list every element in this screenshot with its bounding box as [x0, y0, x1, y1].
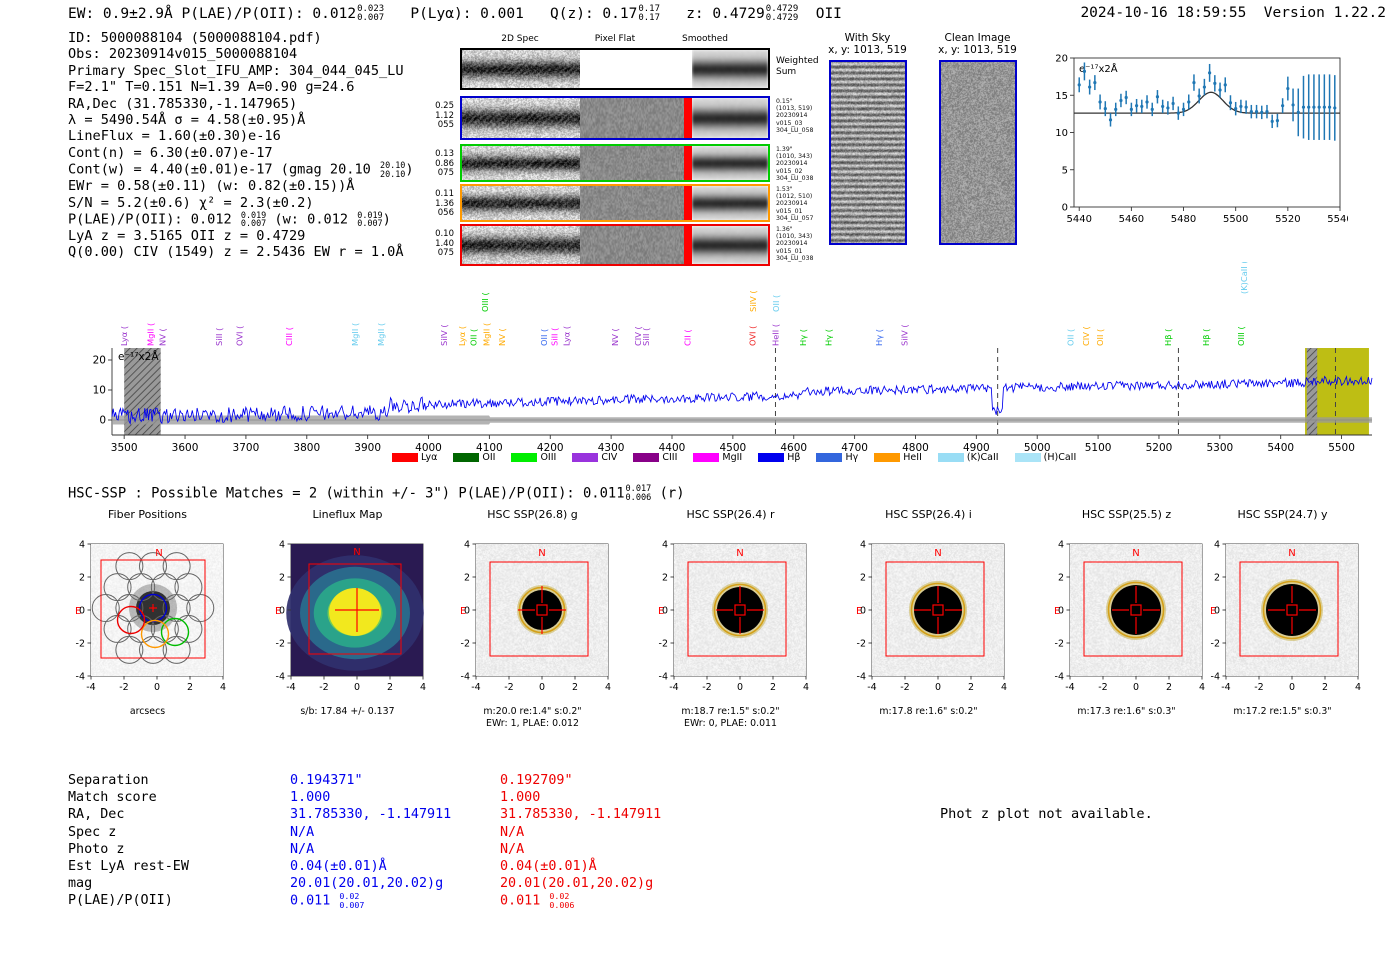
- spec2d-smoothed-image: [692, 146, 768, 180]
- header-z: z: 0.4729: [686, 6, 765, 22]
- info-snr: S/N = 5.2(±0.6) χ² = 2.3(±0.2): [68, 195, 414, 211]
- fitplot-ytick: 20: [1055, 54, 1068, 65]
- info-primary-spec: Primary Spec_Slot_IFU_AMP: 304_044_045_L…: [68, 63, 414, 79]
- spectrum-xtick: 3600: [172, 442, 199, 454]
- cutout-xtick: -4: [669, 682, 678, 693]
- spectrum-xtick: 3500: [111, 442, 138, 454]
- spectrum-legend-item: OIII: [511, 452, 556, 463]
- spectrum-xtick: 3700: [233, 442, 260, 454]
- spec2d-raw-image: [462, 226, 580, 264]
- cutout-xtick: 0: [1133, 682, 1139, 693]
- spectrum-emission-label: OII (: [1095, 329, 1105, 346]
- compass-north-label: N: [736, 548, 743, 559]
- cutout-ytick: 2: [1214, 572, 1220, 583]
- spec2d-row-right-labels: 1.36"(1010, 343)20230914v015_01304_LU_03…: [776, 226, 824, 262]
- cutout-panel-title: HSC SSP(26.4) r: [638, 508, 823, 521]
- spec2d-flat-noise: [580, 226, 692, 264]
- cutout-ytick: 2: [279, 572, 285, 583]
- spectrum-legend-label: Hγ: [842, 452, 858, 463]
- header-plya: P(Lyα): 0.001: [410, 6, 524, 22]
- cutout-ytick: 0: [1058, 605, 1064, 616]
- cutout-xtick: 2: [187, 682, 193, 693]
- cutout-ytick: -4: [461, 671, 470, 682]
- header-z-species: OII: [816, 6, 842, 22]
- cutout-xtick: 4: [803, 682, 809, 693]
- match-value-col1: N/A: [290, 841, 451, 858]
- info-quality: Q(0.00) CIV (1549) z = 2.5436 EW r = 1.0…: [68, 244, 414, 260]
- spec2d-left-value: 056: [412, 209, 454, 219]
- spectrum-emission-label: MgII (: [376, 323, 386, 346]
- spectrum-legend-item: (H)CaII: [1015, 452, 1077, 463]
- spectrum-emission-label: SiII (: [550, 328, 560, 346]
- match-value-col1: 0.04(±0.01)Å: [290, 858, 451, 875]
- cutout-xtick: -4: [867, 682, 876, 693]
- cutout-ytick: 2: [464, 572, 470, 583]
- spec2d-right-value: 20230914: [776, 112, 824, 119]
- fitplot-ytick: 0: [1062, 203, 1068, 214]
- spec2d-right-value: v015_03: [776, 120, 824, 127]
- spectrum-legend-item: MgII: [693, 452, 742, 463]
- cutout-ytick: -4: [659, 671, 668, 682]
- cutout-ytick: -2: [1055, 638, 1064, 649]
- spectrum-emission-label: OIII (: [1236, 326, 1246, 346]
- spec2d-pixel-flat: [580, 50, 692, 88]
- spec2d-right-value: (1010, 343): [776, 153, 824, 160]
- cutout-ytick: -4: [857, 671, 866, 682]
- cutout-xtick: 4: [220, 682, 226, 693]
- spectrum-emission-label: (K)CaII (: [1239, 262, 1249, 294]
- spec2d-pixel-flat: [580, 146, 692, 180]
- cutout-panel-title: Lineflux Map: [255, 508, 440, 521]
- spectrum-ytick: 20: [93, 355, 106, 367]
- cutout-ytick: 0: [662, 605, 668, 616]
- spectrum-emission-label: NV (: [610, 328, 620, 346]
- spectrum-emission-label: OII (: [771, 295, 781, 312]
- info-obs: Obs: 20230914v015_5000088104: [68, 46, 414, 62]
- spectrum-legend-label: Lyα: [418, 452, 437, 463]
- spec2d-right-value: (1010, 343): [776, 233, 824, 240]
- spec2d-pixel-flat: [580, 186, 692, 220]
- spec2d-raw-image: [462, 186, 580, 220]
- spectrum-legend-item: HeII: [874, 452, 922, 463]
- spec2d-col-header-1: Pixel Flat: [575, 34, 655, 44]
- match-value-col2: 1.000: [500, 789, 661, 806]
- compass-north-label: N: [1132, 548, 1139, 559]
- spectrum-legend-label: CIV: [598, 452, 617, 463]
- spectrum-emission-label: OII (: [469, 329, 479, 346]
- hsc-ssp-header: HSC-SSP : Possible Matches = 2 (within +…: [68, 485, 685, 502]
- cutout-ytick: -2: [659, 638, 668, 649]
- cutout-ytick: 0: [279, 605, 285, 616]
- cutout-panel-fibers[interactable]: Fiber PositionsNE-4-4-2-2002244arcsecs: [55, 508, 240, 738]
- fitplot-xtick: 5540: [1327, 214, 1348, 225]
- spectrum-legend-item: (K)CaII: [938, 452, 999, 463]
- spectrum-legend-label: CIII: [659, 452, 677, 463]
- spectrum-emission-label: MgII (: [481, 323, 491, 346]
- cutout-top-title-1: Clean Imagex, y: 1013, 519: [930, 32, 1025, 56]
- cutout-panel-i[interactable]: HSC SSP(26.4) iNE-4-4-2-2002244m:17.8 re…: [836, 508, 1021, 738]
- spec2d-right-value: (1012, 510): [776, 193, 824, 200]
- cutout-top-name: Clean Image: [930, 32, 1025, 44]
- hsc-header-prefix: HSC-SSP : Possible Matches = 2 (within +…: [68, 486, 625, 502]
- spectrum-legend-swatch: [572, 453, 598, 462]
- cutout-xtick: 0: [354, 682, 360, 693]
- header-summary-prefix: EW: 0.9±2.9Å P(LAE)/P(OII): 0.012: [68, 6, 356, 22]
- match-row-label: P(LAE)/P(OII): [68, 892, 189, 909]
- cutout-top-image-1: [939, 60, 1017, 245]
- info-cont-w: Cont(w) = 4.40(±0.01)e-17 (gmag 20.10 20…: [68, 161, 414, 178]
- fitplot-xtick: 5460: [1119, 214, 1144, 225]
- cutout-panel-caption-primary: m:18.7 re:1.5" s:0.2": [638, 706, 823, 717]
- match-table-column-1: 0.194371"1.00031.785330, -1.147911N/AN/A…: [290, 772, 451, 910]
- spectrum-legend-item: Lyα: [392, 452, 437, 463]
- cutout-xtick: -2: [319, 682, 328, 693]
- spec2d-right-value: 304_LU_038: [776, 175, 824, 182]
- cutout-xtick: -2: [119, 682, 128, 693]
- spectrum-legend-item: CIII: [633, 452, 677, 463]
- spectrum-legend-swatch: [453, 453, 479, 462]
- spectrum-emission-label: Hγ (: [874, 329, 884, 346]
- spectrum-emission-label: OII (: [539, 329, 549, 346]
- cutout-xtick: 2: [387, 682, 393, 693]
- spec2d-col-header-0: 2D Spec: [480, 34, 560, 44]
- spectrum-legend-item: Hβ: [758, 452, 800, 463]
- spec2d-pixel-flat: [580, 98, 692, 138]
- spec2d-left-value: 075: [412, 249, 454, 259]
- cutout-xtick: -4: [471, 682, 480, 693]
- header-datetime: 2024-10-16 18:59:55: [1080, 5, 1246, 21]
- spec2d-montage: 2D SpecPixel FlatSmoothedWeighted Sum0.2…: [420, 34, 810, 249]
- cutout-panel-caption-primary: m:17.2 re:1.5" s:0.3": [1190, 706, 1375, 717]
- spec2d-smoothed-image: [692, 186, 768, 220]
- cutout-xtick: 4: [1001, 682, 1007, 693]
- match-table-column-2: 0.192709"1.00031.785330, -1.147911N/AN/A…: [500, 772, 661, 910]
- spectrum-emission-label: MgII (: [145, 323, 155, 346]
- spectrum-legend-swatch: [816, 453, 842, 462]
- spectrum-legend-swatch: [633, 453, 659, 462]
- cutout-ytick: 4: [279, 539, 285, 550]
- spec2d-right-value: 0.15": [776, 98, 824, 105]
- spec2d-raw-image: [462, 146, 580, 180]
- spectrum-emission-label: SiII (: [214, 328, 224, 346]
- spec2d-pixel-flat: [580, 226, 692, 264]
- spectrum-legend-swatch: [758, 453, 784, 462]
- fitplot-xtick: 5520: [1275, 214, 1300, 225]
- spectrum-legend-item: CIV: [572, 452, 617, 463]
- spec2d-row: [460, 96, 770, 140]
- spec2d-raw-image: [462, 50, 580, 88]
- cutout-xtick: 2: [572, 682, 578, 693]
- spectrum-legend-label: OII: [479, 452, 495, 463]
- cutout-ytick: -4: [276, 671, 285, 682]
- spec2d-flat-red-marker: [684, 98, 692, 138]
- spectrum-legend-swatch: [1015, 453, 1041, 462]
- spec2d-row-right-labels: 1.39"(1010, 343)20230914v015_02304_LU_03…: [776, 146, 824, 182]
- cutout-panel-caption-primary: m:17.8 re:1.6" s:0.2": [836, 706, 1021, 717]
- spectrum-legend-label: OIII: [537, 452, 556, 463]
- cutout-top-coords: x, y: 1013, 519: [930, 44, 1025, 56]
- cutout-top-pixels: [941, 62, 1015, 243]
- spectrum-emission-label: MgII (: [350, 323, 360, 346]
- spec2d-row-right-labels: 0.15"(1013, 519)20230914v015_03304_LU_05…: [776, 98, 824, 134]
- cutout-xtick: 4: [1355, 682, 1361, 693]
- match-value-col1: 0.194371": [290, 772, 451, 789]
- spec2d-flat-noise: [580, 98, 692, 138]
- cutout-top-image-0: [829, 60, 907, 245]
- hsc-header-fraction: 0.0170.006: [626, 485, 652, 502]
- cutout-panel-caption-primary: m:20.0 re:1.4" s:0.2": [440, 706, 625, 717]
- spectrum-legend: Lyα OII OIII CIV CIII MgII Hβ Hγ HeII (K…: [392, 445, 1092, 464]
- cutout-panel-title: HSC SSP(26.4) i: [836, 508, 1021, 521]
- spectrum-emission-label: CII (: [682, 329, 692, 346]
- cutout-ytick: 4: [79, 539, 85, 550]
- fitplot-ytick: 15: [1055, 91, 1068, 102]
- cutout-xtick: -4: [1065, 682, 1074, 693]
- spec2d-right-value: 304_LU_038: [776, 255, 824, 262]
- match-value-col2: 0.011 0.020.006: [500, 892, 661, 910]
- cutout-ytick: 2: [662, 572, 668, 583]
- fitplot-xtick: 5500: [1223, 214, 1248, 225]
- fitplot-xtick: 5440: [1066, 214, 1091, 225]
- cutout-ytick: -2: [461, 638, 470, 649]
- cutout-top-pixels: [831, 62, 905, 243]
- info-wavelength: λ = 5490.54Å σ = 4.58(±0.95)Å: [68, 112, 414, 128]
- fitplot-ytick: 5: [1062, 165, 1068, 176]
- spec2d-right-value: 1.39": [776, 146, 824, 153]
- cutout-xtick: -2: [702, 682, 711, 693]
- cutout-xtick: 0: [539, 682, 545, 693]
- spec2d-left-value: 055: [412, 121, 454, 131]
- cutout-ytick: -4: [1055, 671, 1064, 682]
- spec2d-right-value: 1.36": [776, 226, 824, 233]
- spec2d-weighted-sum-label: Weighted Sum: [776, 56, 819, 77]
- spectrum-emission-label: Hβ (: [1163, 329, 1173, 346]
- spectrum-emission-label: SiIV (: [900, 324, 910, 346]
- compass-north-label: N: [538, 548, 545, 559]
- cutout-ytick: 4: [464, 539, 470, 550]
- spectrum-legend-swatch: [693, 453, 719, 462]
- info-redshifts: LyA z = 3.5165 OII z = 0.4729: [68, 228, 414, 244]
- spectrum-emission-label: Lyα (: [457, 326, 467, 346]
- spectrum-xtick: 3800: [293, 442, 320, 454]
- cutout-xtick: 0: [1289, 682, 1295, 693]
- cutout-xtick: 4: [605, 682, 611, 693]
- header-qz: Q(z): 0.17: [550, 6, 637, 22]
- cutout-panel-caption-primary: s/b: 17.84 +/- 0.137: [255, 706, 440, 717]
- match-value-col2: 0.192709": [500, 772, 661, 789]
- sky-clean-cutouts: With Skyx, y: 1013, 519Clean Imagex, y: …: [820, 32, 1025, 247]
- cutout-ytick: 4: [1214, 539, 1220, 550]
- spec2d-flat-noise: [580, 146, 692, 180]
- photz-note: Phot z plot not available.: [940, 806, 1153, 822]
- cutout-xtick: -2: [1098, 682, 1107, 693]
- spectrum-legend-item: OII: [453, 452, 495, 463]
- spec2d-flat-noise: [580, 186, 692, 220]
- spectrum-xtick: 5400: [1267, 442, 1294, 454]
- spectrum-emission-label: Hγ (: [824, 329, 834, 346]
- match-row-label: mag: [68, 875, 189, 892]
- match-row-label: Photo z: [68, 841, 189, 858]
- spectrum-emission-label: SiIV (: [748, 290, 758, 312]
- cutout-ytick: 0: [1214, 605, 1220, 616]
- cutout-panel-title: Fiber Positions: [55, 508, 240, 521]
- spectrum-ytick: 0: [99, 415, 106, 427]
- spectrum-units-label: e⁻¹⁷x2Å: [118, 350, 159, 363]
- cutout-xtick: 4: [420, 682, 426, 693]
- cutout-ytick: -2: [276, 638, 285, 649]
- compass-north-label: N: [155, 548, 162, 559]
- spec2d-smoothed-image: [692, 98, 768, 138]
- cutout-xtick: -2: [900, 682, 909, 693]
- cutout-ytick: 2: [79, 572, 85, 583]
- spectrum-emission-label: Lyα (: [119, 326, 129, 346]
- spectrum-legend-label: (K)CaII: [964, 452, 999, 463]
- header-qz-fraction: 0.170.17: [638, 5, 660, 23]
- cutout-xtick: 0: [154, 682, 160, 693]
- spec2d-right-value: v015_01: [776, 208, 824, 215]
- fitplot-xtick: 5480: [1171, 214, 1196, 225]
- spectrum-emission-label: HeII (: [771, 324, 781, 346]
- cutout-xtick: 2: [770, 682, 776, 693]
- spectrum-legend-label: Hβ: [784, 452, 800, 463]
- cutout-top-name: With Sky: [820, 32, 915, 44]
- spectrum-emission-label: Hβ (: [1201, 329, 1211, 346]
- spectrum-ytick: 10: [93, 385, 106, 397]
- line-fit-plot: 05101520544054605480550055205540e⁻¹⁷x2Å: [1038, 50, 1348, 235]
- match-value-col1: N/A: [290, 824, 451, 841]
- cutout-xtick: 2: [968, 682, 974, 693]
- match-value-col2: N/A: [500, 824, 661, 841]
- spec2d-row: [460, 184, 770, 222]
- header-plae-fraction: 0.0230.007: [357, 5, 384, 23]
- cutout-panel-g[interactable]: HSC SSP(26.8) gNE-4-4-2-2002244m:20.0 re…: [440, 508, 625, 738]
- match-row-label: RA, Dec: [68, 806, 189, 823]
- info-ewr: EWr = 0.58(±0.11) (w: 0.82(±0.15))Å: [68, 178, 414, 194]
- match-row-label: Match score: [68, 789, 189, 806]
- cutout-panel-y[interactable]: HSC SSP(24.7) yNE-4-4-2-2002244m:17.2 re…: [1190, 508, 1375, 738]
- spec2d-flat-red-marker: [684, 226, 692, 264]
- cutout-xtick: -4: [286, 682, 295, 693]
- hsc-header-suffix: (r): [660, 486, 685, 502]
- spectrum-legend-swatch: [874, 453, 900, 462]
- cutout-xtick: -2: [504, 682, 513, 693]
- cutout-xtick: -4: [1221, 682, 1230, 693]
- cutout-xtick: 2: [1166, 682, 1172, 693]
- info-id: ID: 5000088104 (5000088104.pdf): [68, 30, 414, 46]
- spec2d-row-left-labels: 0.111.36056: [412, 190, 454, 219]
- cutout-xtick: 0: [737, 682, 743, 693]
- spectrum-emission-label: OII (: [1066, 329, 1076, 346]
- spectrum-emission-label: Hγ (: [798, 329, 808, 346]
- cutout-ytick: 0: [79, 605, 85, 616]
- fitplot-ytick: 10: [1055, 128, 1068, 139]
- spectrum-legend-swatch: [511, 453, 537, 462]
- cutout-ytick: -4: [1211, 671, 1220, 682]
- cutout-top-title-0: With Skyx, y: 1013, 519: [820, 32, 915, 56]
- spectrum-legend-item: Hγ: [816, 452, 858, 463]
- header-timestamp-version: 2024-10-16 18:59:55 Version 1.22.2: [1080, 5, 1386, 21]
- spec2d-right-value: 20230914: [776, 160, 824, 167]
- spec2d-right-value: 20230914: [776, 240, 824, 247]
- match-value-col2: 0.04(±0.01)Å: [500, 858, 661, 875]
- spectrum-emission-label: Lyα (: [562, 326, 572, 346]
- cutout-ytick: 0: [860, 605, 866, 616]
- spec2d-row-left-labels: 0.101.40075: [412, 230, 454, 259]
- header-summary-line: EW: 0.9±2.9Å P(LAE)/P(OII): 0.0120.0230.…: [68, 5, 842, 23]
- cutout-panel-title: HSC SSP(26.8) g: [440, 508, 625, 521]
- compass-north-label: N: [934, 548, 941, 559]
- header-z-fraction: 0.47290.4729: [766, 5, 798, 23]
- cutout-ytick: 0: [464, 605, 470, 616]
- match-value-col2: 31.785330, -1.147911: [500, 806, 661, 823]
- cutout-xtick: 0: [935, 682, 941, 693]
- cutout-panel-lineflux[interactable]: Lineflux MapNE-4-4-2-2002244s/b: 17.84 +…: [255, 508, 440, 738]
- spec2d-flat-red-marker: [684, 186, 692, 220]
- cutout-xtick: -4: [86, 682, 95, 693]
- spectrum-xtick: 3900: [354, 442, 381, 454]
- match-table-labels: SeparationMatch scoreRA, DecSpec zPhoto …: [68, 772, 189, 910]
- spectrum-emission-label: NV (: [497, 328, 507, 346]
- spec2d-right-value: 304_LU_057: [776, 215, 824, 222]
- spec2d-row-left-labels: 0.130.86075: [412, 150, 454, 179]
- spectrum-xtick: 5500: [1328, 442, 1355, 454]
- cutout-panel-caption-primary: arcsecs: [55, 706, 240, 717]
- spectrum-legend-swatch: [938, 453, 964, 462]
- spec2d-row-right-labels: 1.53"(1012, 510)20230914v015_01304_LU_05…: [776, 186, 824, 222]
- header-version: Version 1.22.2: [1264, 5, 1386, 21]
- spec2d-right-value: 1.53": [776, 186, 824, 193]
- match-value-col1: 20.01(20.01,20.02)g: [290, 875, 451, 892]
- match-value-col2: 20.01(20.01,20.02)g: [500, 875, 661, 892]
- cutout-ytick: 2: [1058, 572, 1064, 583]
- spec2d-right-value: (1013, 519): [776, 105, 824, 112]
- cutout-panel-caption-secondary: EWr: 1, PLAE: 0.012: [440, 718, 625, 729]
- spectrum-emission-label: SiIV (: [439, 324, 449, 346]
- detection-info-block: ID: 5000088104 (5000088104.pdf)Obs: 2023…: [68, 30, 414, 261]
- spec2d-right-value: v015_02: [776, 168, 824, 175]
- spectrum-xtick: 5200: [1146, 442, 1173, 454]
- spec2d-raw-image: [462, 98, 580, 138]
- cutout-panel-caption-secondary: EWr: 0, PLAE: 0.011: [638, 718, 823, 729]
- spectrum-legend-swatch: [392, 453, 418, 462]
- spectrum-legend-label: (H)CaII: [1041, 452, 1077, 463]
- spec2d-left-value: 075: [412, 169, 454, 179]
- cutout-ytick: 4: [1058, 539, 1064, 550]
- spectrum-emission-label: SiII (: [641, 328, 651, 346]
- cutout-ytick: -2: [857, 638, 866, 649]
- spectrum-xtick: 5300: [1206, 442, 1233, 454]
- spec2d-right-value: 304_LU_058: [776, 127, 824, 134]
- cutout-panel-r[interactable]: HSC SSP(26.4) rNE-4-4-2-2002244m:18.7 re…: [638, 508, 823, 738]
- info-seeing: F=2.1" T=0.151 N=1.39 A=0.90 g=24.6: [68, 79, 414, 95]
- info-lineflux: LineFlux = 1.60(±0.30)e-16: [68, 128, 414, 144]
- spec2d-smoothed-image: [692, 50, 768, 88]
- cutout-ytick: 2: [860, 572, 866, 583]
- spectrum-legend-label: MgII: [719, 452, 742, 463]
- cutout-panel-row: Fiber PositionsNE-4-4-2-2002244arcsecsLi…: [0, 508, 1400, 748]
- cutout-top-coords: x, y: 1013, 519: [820, 44, 915, 56]
- match-row-label: Est LyA rest-EW: [68, 858, 189, 875]
- compass-north-label: N: [353, 547, 360, 558]
- spec2d-flat-red-marker: [684, 146, 692, 180]
- spec2d-right-value: 20230914: [776, 200, 824, 207]
- spec2d-col-header-2: Smoothed: [665, 34, 745, 44]
- spectrum-emission-label: OVI (: [234, 326, 244, 346]
- spec2d-right-value: v015_01: [776, 248, 824, 255]
- cutout-xtick: -2: [1254, 682, 1263, 693]
- spectrum-emission-label: NV (: [158, 328, 168, 346]
- spectrum-legend-label: HeII: [900, 452, 922, 463]
